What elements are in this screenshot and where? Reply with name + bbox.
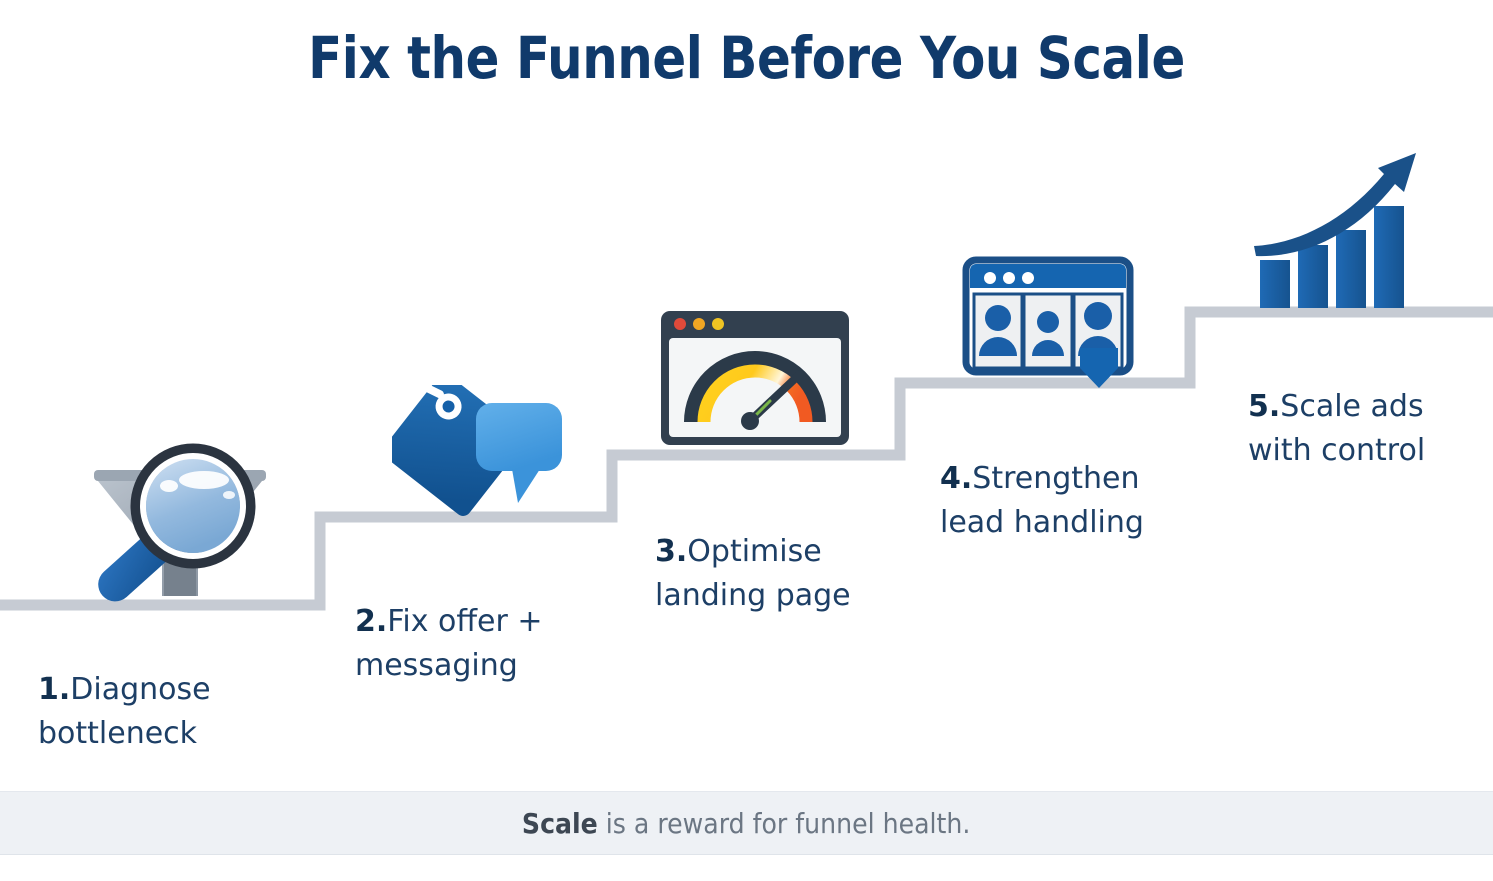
browser-speedometer-icon — [658, 308, 852, 448]
step-label-5: 5.Scale ads with control — [1248, 341, 1425, 473]
step-label-2: 2.Fix offer + messaging — [355, 556, 542, 688]
footer-tagline-rest: is a reward for funnel health. — [598, 807, 971, 840]
page-title: Fix the Funnel Before You Scale — [105, 24, 1389, 92]
step-number-2: 2. — [355, 604, 387, 639]
footer-tagline: Scale is a reward for funnel health. — [522, 807, 970, 840]
infographic-canvas: Fix the Funnel Before You Scale — [0, 0, 1493, 881]
price-tag-speech-bubble-icon — [392, 385, 572, 520]
footer-band: Scale is a reward for funnel health. — [0, 791, 1493, 855]
step-number-3: 3. — [655, 534, 687, 569]
step-label-3: 3.Optimise landing page — [655, 486, 851, 618]
step-number-1: 1. — [38, 672, 70, 707]
footer-tagline-strong: Scale — [522, 807, 598, 840]
crm-leads-window-icon — [962, 256, 1142, 388]
step-label-1: 1.Diagnose bottleneck — [38, 624, 211, 756]
step-number-5: 5. — [1248, 389, 1280, 424]
step-label-4: 4.Strengthen lead handling — [940, 413, 1144, 545]
growth-bar-chart-arrow-icon — [1252, 148, 1424, 312]
funnel-magnifier-icon — [80, 438, 280, 608]
step-number-4: 4. — [940, 461, 972, 496]
